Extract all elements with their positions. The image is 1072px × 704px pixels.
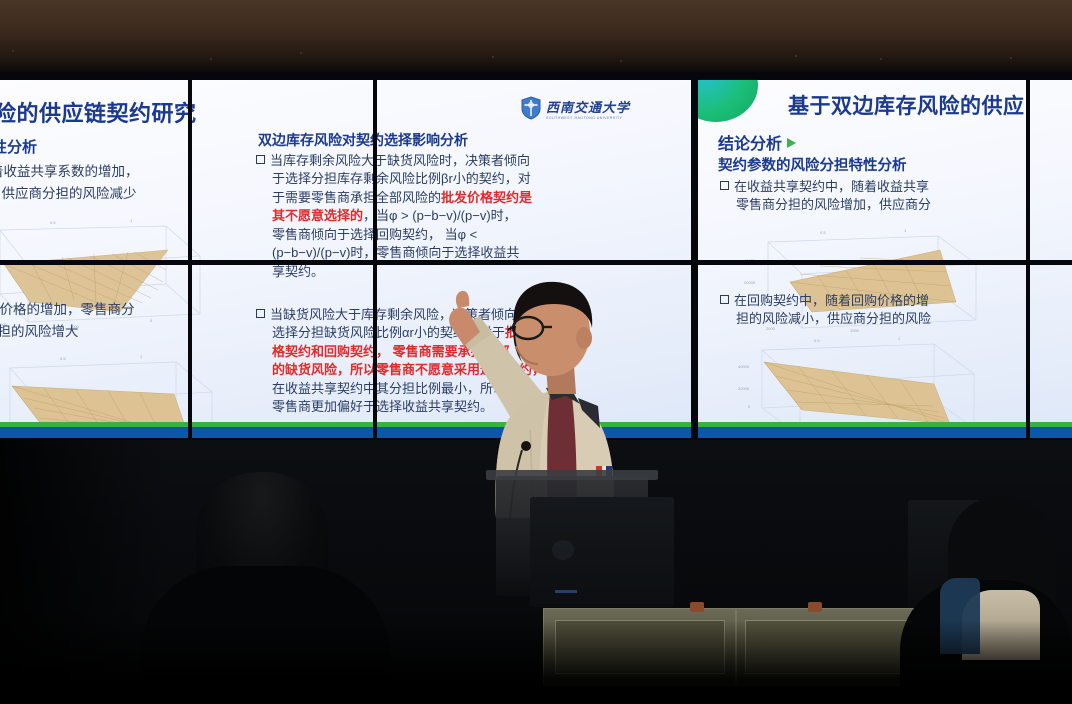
desk-knob-left xyxy=(690,602,704,612)
bullet1-line7: 享契约。 xyxy=(272,263,324,281)
slide-center-heading: 双边库存风险对契约选择影响分析 xyxy=(258,130,468,150)
bullet1-line2: 于选择分担库存剩余风险比例βr小的契约，对 xyxy=(272,170,531,188)
slide-right-bullet-2: 在回购契约中，随着回购价格的增 担的风险减小，供应商分担的风险 xyxy=(720,292,1072,329)
right-b1-line1: 在收益共享契约中，随着收益共享 xyxy=(734,179,929,194)
bullet1-line4: ，当φ > (p−b−v)/(p−v)时， xyxy=(363,208,517,223)
slide-right-title: 基于双边库存风险的供应 xyxy=(788,90,1025,120)
bullet-square-icon-r2 xyxy=(720,295,729,304)
logo-english-name: SOUTHWEST JIAOTONG UNIVERSITY xyxy=(546,116,630,120)
svg-text:0.5: 0.5 xyxy=(60,356,66,361)
right-b2-line1: 在回购契约中，随着回购价格的增 xyxy=(734,293,929,308)
bullet1-red-b: 其不愿意选择的 xyxy=(272,207,363,225)
slide-right-bullet-1: 在收益共享契约中，随着收益共享 零售商分担的风险增加，供应商分 xyxy=(720,178,1072,215)
bullet-square-icon xyxy=(256,155,265,164)
lecture-scene: 险的供应链契约研究 性分析 着收益共享系数的增加， ，供应商分担的风险减少 xyxy=(0,0,1072,704)
slide-right-section-sub: 契约参数的风险分担特性分析 xyxy=(718,154,907,175)
svg-text:1: 1 xyxy=(130,218,133,223)
section-label-text: 结论分析 xyxy=(718,136,782,153)
svg-text:0.5: 0.5 xyxy=(50,220,56,225)
slide-left-second-line-1: 购价格的增加，零售商分 xyxy=(0,300,135,319)
svg-text:0.5: 0.5 xyxy=(820,230,826,235)
svg-text:40000: 40000 xyxy=(738,364,750,369)
lapel-mic-icon xyxy=(521,441,531,451)
svg-text:0.5: 0.5 xyxy=(814,338,820,343)
university-logo: 西南交通大学 SOUTHWEST JIAOTONG UNIVERSITY xyxy=(520,96,630,120)
monitor-logo-dot xyxy=(552,540,574,560)
bezel-row-divider xyxy=(0,260,1072,265)
bullet-square-icon-r1 xyxy=(720,181,729,190)
svg-text:1: 1 xyxy=(140,354,143,359)
bullet1-line1: 当库存剩余风险大于缺货风险时，决策者倾向 xyxy=(270,153,530,168)
back-wall xyxy=(0,0,1072,72)
svg-text:0: 0 xyxy=(150,318,153,323)
slide-left-body-line-1: 着收益共享系数的增加， xyxy=(0,162,139,181)
svg-text:20000: 20000 xyxy=(738,386,750,391)
slide-left-second-line-2: 分担的风险增大 xyxy=(0,322,79,341)
svg-text:1: 1 xyxy=(904,228,907,233)
logo-chinese-name: 西南交通大学 xyxy=(546,97,630,116)
svg-text:20000: 20000 xyxy=(744,280,756,285)
decorative-circle xyxy=(698,78,758,122)
right-b2-line2: 担的风险减小，供应商分担的风险 xyxy=(736,310,931,328)
slide-left-section-heading: 性分析 xyxy=(0,136,37,157)
slide-left-body-line-2: ，供应商分担的风险减少 xyxy=(0,184,137,203)
bezel-col-3 xyxy=(691,72,698,444)
bezel-col-1 xyxy=(188,72,192,444)
bezel-col-2 xyxy=(373,72,377,444)
bezel-top xyxy=(0,72,1072,80)
svg-text:0: 0 xyxy=(748,404,751,409)
bullet-square-icon-2 xyxy=(256,309,265,318)
bullet1-red-a: 批发价格契约是 xyxy=(441,190,532,205)
lectern-top xyxy=(486,470,658,480)
play-arrow-icon xyxy=(787,138,796,148)
left-vignette xyxy=(0,440,170,704)
shield-icon xyxy=(520,96,542,120)
right-b1-line2: 零售商分担的风险增加，供应商分 xyxy=(736,196,931,214)
svg-text:1: 1 xyxy=(898,336,901,341)
slide-left-title: 险的供应链契约研究 xyxy=(0,96,197,128)
desk-knob-right xyxy=(808,602,822,612)
monitor-power-led xyxy=(555,590,577,593)
slide-right-section-label: 结论分析 xyxy=(718,130,796,154)
bezel-col-4 xyxy=(1026,72,1030,444)
bullet1-line3: 于需要零售商承担全部风险的 xyxy=(272,189,441,207)
